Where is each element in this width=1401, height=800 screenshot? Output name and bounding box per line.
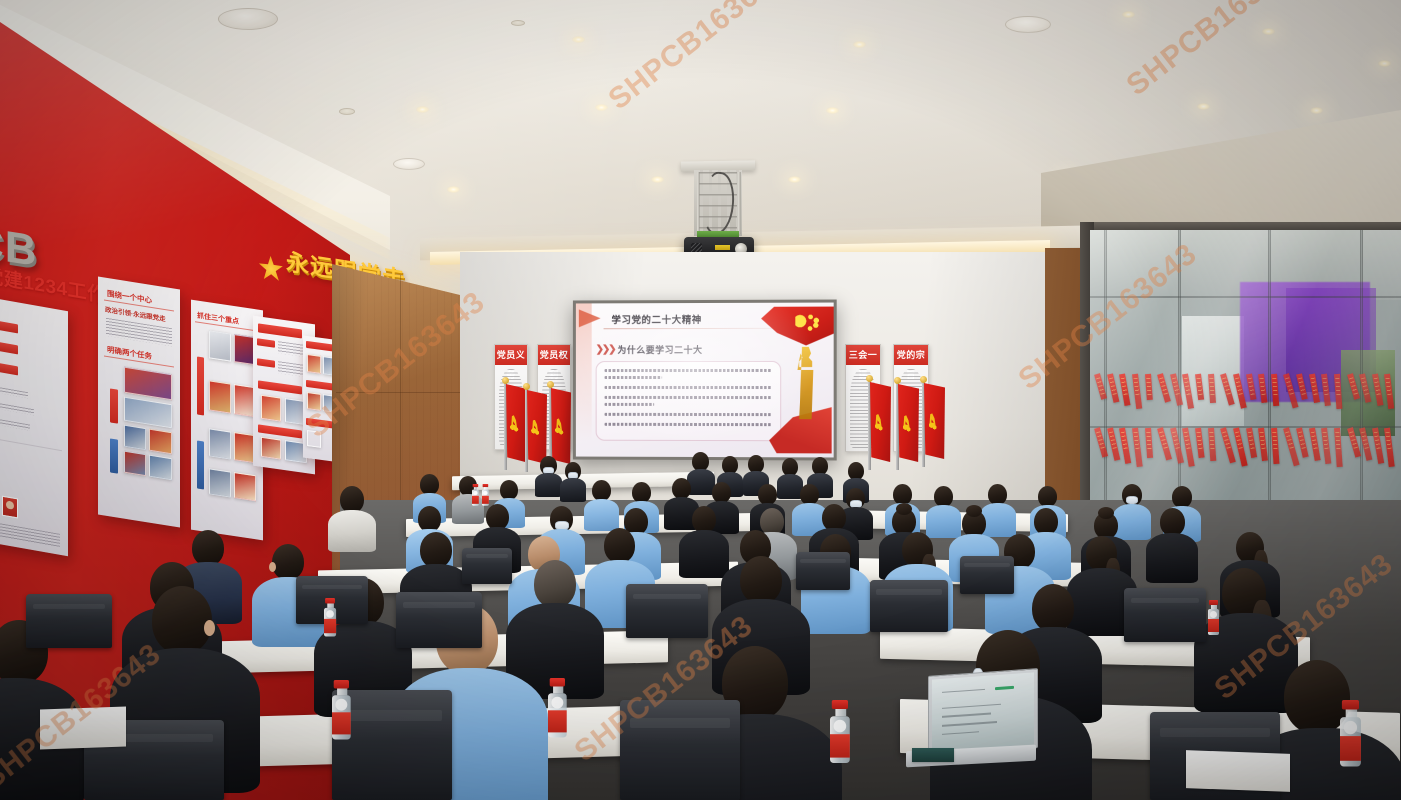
- red-hanging-banner: [1347, 373, 1360, 400]
- red-hanging-banner: [1182, 427, 1195, 466]
- flag-finial: [920, 376, 927, 383]
- chevron-right-icon: ❯❯❯: [596, 344, 615, 355]
- hair-bun: [896, 503, 912, 515]
- board-chip: [257, 358, 275, 368]
- attendee-head: [272, 544, 304, 580]
- info-panel-title: 三会一课: [846, 345, 880, 365]
- golden-pillar-emblem-icon: [791, 347, 819, 419]
- board-vertical-tag: [197, 357, 204, 416]
- red-hanging-banner: [1195, 428, 1205, 459]
- slide-bullet-line: [605, 386, 773, 389]
- red-hanging-banner: [1208, 374, 1216, 403]
- bottle-cap: [550, 678, 565, 687]
- ceiling-downlight: [651, 176, 664, 183]
- attendee-torso: [584, 499, 619, 531]
- laptop[interactable]: [928, 668, 1038, 756]
- attendee-head: [420, 474, 439, 495]
- attendee-torso: [328, 510, 376, 552]
- red-hanging-banner: [1321, 428, 1331, 464]
- board-photo: [124, 425, 146, 450]
- red-hanging-banner: [1296, 373, 1308, 400]
- board-heading-chip: [258, 323, 302, 338]
- attendee-head: [712, 482, 731, 503]
- board-vertical-tag: [110, 388, 118, 423]
- red-hanging-banner: [1271, 428, 1279, 464]
- chair: [626, 584, 708, 638]
- ceiling-speaker: [218, 8, 278, 30]
- flag-finial: [502, 377, 509, 384]
- red-hanging-banner: [1384, 374, 1394, 409]
- attendee-head: [800, 484, 819, 505]
- attendee-head: [192, 530, 224, 566]
- bottle-cap: [832, 700, 848, 709]
- chair: [1124, 588, 1206, 642]
- board-photo: [124, 451, 146, 476]
- red-hanging-banner: [1321, 374, 1331, 406]
- red-hanging-banner: [1246, 427, 1257, 458]
- smoke-detector: [339, 108, 355, 115]
- attendee-torso: [452, 494, 484, 524]
- attendee-head: [340, 486, 364, 513]
- attendee-head: [632, 482, 651, 503]
- flag-finial: [523, 383, 530, 390]
- slide-bullet-line: [605, 403, 655, 406]
- chair: [620, 700, 740, 800]
- hammer-sickle-icon: [511, 415, 520, 438]
- red-hanging-banner: [1296, 427, 1309, 458]
- slide-bullet-line: [605, 396, 773, 400]
- banner-row-upper: [1090, 374, 1401, 414]
- flag-finial: [547, 381, 554, 388]
- red-hanging-banner: [1372, 373, 1383, 406]
- party-flag: [898, 384, 919, 462]
- board-photo: [149, 429, 172, 455]
- ceiling-downlight: [1378, 60, 1391, 67]
- red-hanging-banner: [1258, 374, 1267, 404]
- laptop-screen: [932, 672, 1034, 751]
- board-photo: [307, 392, 321, 411]
- slide-bullet-line: [605, 376, 663, 379]
- red-hanging-banner: [1157, 373, 1171, 403]
- attendee-torso: [687, 469, 715, 495]
- red-hanging-banner: [1195, 374, 1204, 401]
- laptop-screen-text-line: [942, 713, 991, 718]
- attendee-head: [420, 532, 452, 568]
- attendee-torso: [560, 478, 586, 502]
- slide-title: 学习党的二十大精神: [611, 312, 701, 326]
- laptop-screen-text-line: [942, 731, 979, 735]
- ceiling-downlight: [1262, 28, 1275, 35]
- attendee-head: [592, 480, 611, 501]
- board-photo: [307, 354, 321, 374]
- red-hanging-banner: [1258, 428, 1268, 461]
- red-hanging-banner: [1094, 427, 1108, 457]
- board-heading-chip: [306, 418, 336, 429]
- red-hanging-banner: [1145, 374, 1153, 400]
- ceiling-downlight: [416, 106, 429, 113]
- board-text-block: [0, 377, 28, 398]
- board-photo: [307, 430, 321, 448]
- attendee-head: [1038, 486, 1057, 507]
- ceiling-downlight: [1122, 11, 1135, 18]
- attendee-torso: [1146, 533, 1198, 583]
- attendee-head: [534, 560, 576, 608]
- ceiling-speaker: [1005, 16, 1051, 33]
- hammer-sickle-icon: [875, 414, 884, 438]
- chair: [960, 556, 1014, 594]
- attendee-head: [988, 484, 1007, 505]
- red-hanging-banner: [1309, 373, 1320, 403]
- red-hanging-banner: [1246, 373, 1256, 400]
- ceiling-downlight: [447, 186, 460, 193]
- attendee-head: [604, 528, 635, 563]
- red-hanging-banner: [1372, 427, 1384, 463]
- ear: [204, 620, 215, 636]
- red-hanging-banner: [1182, 373, 1194, 409]
- flag-stars-icon: [795, 315, 821, 331]
- party-flag: [527, 390, 547, 464]
- board-chip: [0, 363, 18, 376]
- projection-screen: 学习党的二十大精神 ❯❯❯ 为什么要学习二十大: [573, 300, 837, 461]
- slide-bullet-box: [596, 361, 782, 441]
- attendee-head: [822, 504, 846, 531]
- board-heading-chip: [306, 380, 336, 391]
- board-photo: [209, 330, 231, 361]
- projector-label: [715, 245, 730, 250]
- document-paper[interactable]: [40, 706, 126, 749]
- board-photo: [209, 428, 231, 459]
- attendee-head: [152, 586, 212, 654]
- board-photo: [124, 397, 172, 429]
- glass-horizontal-mullion: [1090, 296, 1401, 298]
- ceiling-downlight: [826, 107, 839, 114]
- slide-bullet-line: [605, 413, 773, 417]
- ceiling-downlight: [1197, 103, 1210, 110]
- attendee-head: [740, 556, 782, 604]
- laptop-screen-text-line: [942, 721, 997, 726]
- board-photo: [149, 455, 172, 481]
- attendee-torso: [1113, 504, 1151, 540]
- banner-row-lower: [1090, 428, 1401, 468]
- chair: [26, 594, 112, 648]
- flag-finial: [866, 375, 873, 382]
- board-divider: [0, 429, 62, 451]
- red-hanging-banner: [1334, 428, 1343, 467]
- board-photo: [261, 437, 281, 460]
- attendee-head: [934, 486, 953, 507]
- red-hanging-banner: [1107, 427, 1120, 461]
- red-hanging-banner: [1119, 373, 1130, 406]
- bottle-neck: [336, 689, 346, 696]
- board-heading-chip: [306, 341, 336, 352]
- ceiling-downlight: [788, 176, 801, 183]
- ceiling-downlight: [1310, 107, 1323, 114]
- hammer-sickle-icon: [903, 415, 912, 438]
- attendee-torso: [926, 505, 961, 538]
- bottle-neck: [1345, 710, 1356, 718]
- red-hanging-banner: [1170, 373, 1183, 406]
- attendee-head: [893, 484, 912, 505]
- board-photo: [234, 472, 256, 501]
- bottle-cap: [334, 680, 349, 689]
- red-hanging-banner: [1359, 373, 1371, 403]
- laptop-screen-badge: [995, 685, 1013, 689]
- slide-bullet-line: [605, 423, 773, 427]
- attendee-head: [760, 508, 784, 535]
- document-paper[interactable]: [1186, 750, 1290, 792]
- bottle-neck: [835, 709, 846, 716]
- bottle-label: [324, 619, 336, 633]
- hair-bun: [966, 505, 982, 517]
- party-flag: [551, 388, 571, 464]
- board-chip: [0, 321, 18, 334]
- bottle-cap: [1342, 700, 1359, 710]
- info-panel-title: 党的宗旨: [894, 345, 928, 365]
- attendee-head: [1172, 486, 1192, 508]
- presentation-slide: 学习党的二十大精神 ❯❯❯ 为什么要学习二十大: [576, 303, 834, 458]
- display-board-1234: [0, 289, 68, 557]
- attendee-head: [692, 506, 716, 533]
- board-photo: [209, 468, 231, 497]
- member-portrait: [2, 496, 18, 519]
- ceiling-downlight: [572, 36, 585, 43]
- attendee-torso: [679, 530, 729, 578]
- info-panel-title: 党员权利: [538, 345, 570, 365]
- bottle-label: [472, 496, 479, 504]
- party-flag: [506, 384, 526, 462]
- red-hanging-banner: [1220, 373, 1235, 405]
- red-hanging-banner: [1271, 374, 1279, 406]
- ceiling-speaker: [393, 158, 425, 170]
- board-vertical-tag: [110, 438, 118, 473]
- attendee-head: [1032, 584, 1074, 632]
- red-hanging-banner: [1334, 374, 1342, 409]
- hammer-sickle-icon: [532, 420, 541, 442]
- hammer-sickle-icon: [556, 418, 565, 441]
- red-hanging-banner: [1107, 373, 1119, 403]
- attendee-head: [1160, 508, 1185, 536]
- red-hanging-banner: [1157, 427, 1172, 460]
- board-chip: [257, 338, 275, 348]
- chair: [870, 580, 948, 632]
- board-photo: [124, 367, 172, 401]
- flag-finial: [894, 377, 901, 384]
- hair-bun: [1098, 507, 1114, 519]
- info-panel-title: 党员义务: [495, 345, 527, 365]
- board-text-block: [0, 513, 60, 548]
- display-board-one-center: 围绕一个中心 政治引领·永远跟党走 明确两个任务: [98, 277, 180, 528]
- bottle-label: [1340, 736, 1361, 761]
- slide-title-marker-icon: [579, 309, 601, 327]
- red-hanging-banner: [1145, 428, 1153, 458]
- party-flag: [870, 382, 891, 462]
- red-hanging-banner: [1094, 373, 1107, 400]
- bottle-neck: [552, 687, 562, 694]
- chinese-flag-decoration: [761, 307, 834, 349]
- attendee-head: [672, 478, 691, 499]
- ceiling-downlight: [595, 104, 608, 111]
- chair: [796, 552, 850, 590]
- notebook[interactable]: [912, 748, 954, 762]
- red-hanging-banner: [1132, 374, 1142, 409]
- bottle-label: [830, 734, 850, 757]
- laptop-screen-text-line: [942, 704, 1001, 710]
- attendee-head: [758, 484, 777, 505]
- red-hanging-banner: [1233, 373, 1247, 408]
- board-vertical-tag: [197, 441, 204, 490]
- smoke-detector: [511, 20, 525, 26]
- conference-room-photo: CB 党建1234工作法 永远跟党走 围绕一个中心 政治引领·永远跟党走 明确两…: [0, 0, 1401, 800]
- chair: [396, 592, 482, 648]
- party-flag: [924, 383, 945, 459]
- ceiling-downlight: [853, 41, 866, 48]
- bottle-label: [332, 712, 351, 734]
- bottle-label: [482, 496, 489, 504]
- projector-lift-post: [738, 172, 741, 234]
- attendee-head: [1034, 508, 1058, 535]
- laptop-screen-text-line: [942, 689, 985, 693]
- board-chip: [0, 342, 18, 355]
- board-photo: [261, 395, 281, 422]
- board-photo: [209, 380, 231, 413]
- chair: [462, 548, 512, 584]
- slide-subtitle: 为什么要学习二十大: [617, 343, 702, 356]
- red-hanging-banner: [1309, 427, 1321, 461]
- red-hanging-banner: [1347, 427, 1361, 457]
- board-heading-chip: [258, 380, 302, 394]
- face-mask: [1126, 496, 1138, 504]
- red-hanging-banner: [1208, 428, 1216, 461]
- bottle-label: [548, 710, 567, 732]
- red-hanging-banner: [1384, 428, 1395, 467]
- attendee-torso: [535, 473, 562, 497]
- hammer-sickle-icon: [929, 413, 938, 436]
- red-hanging-banner: [1119, 427, 1131, 463]
- slide-bullet-line: [605, 369, 773, 372]
- ear: [269, 562, 276, 572]
- attendee-head: [500, 480, 518, 500]
- red-hanging-banner: [1132, 428, 1143, 467]
- bottle-label: [1208, 619, 1219, 632]
